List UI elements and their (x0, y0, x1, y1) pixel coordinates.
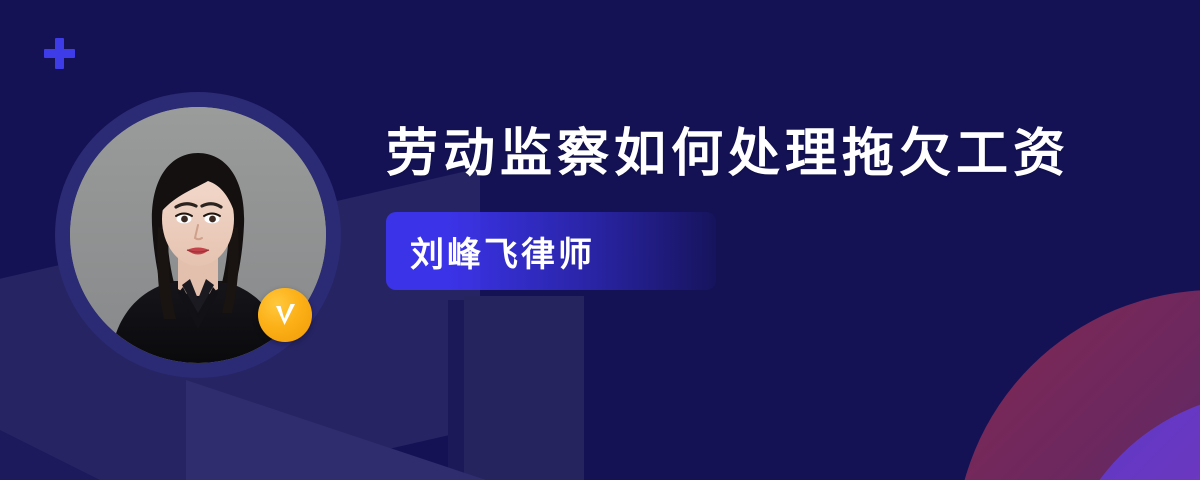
background-stripe (448, 300, 464, 480)
author-badge[interactable]: 刘峰飞律师 (386, 212, 716, 290)
crescent-arc-inner (1058, 392, 1200, 480)
article-cover-banner: 劳动监察如何处理拖欠工资 刘峰飞律师 (0, 0, 1200, 480)
background-triangle (186, 380, 546, 480)
background-band-right (464, 296, 584, 480)
plus-icon (42, 36, 78, 72)
crescent-arc-outer (955, 290, 1200, 480)
avatar (55, 92, 341, 378)
cover-content: 劳动监察如何处理拖欠工资 刘峰飞律师 (386, 118, 1086, 290)
background-notch (0, 430, 120, 480)
verified-check-icon (258, 288, 312, 342)
author-name: 刘峰飞律师 (410, 227, 595, 276)
page-title: 劳动监察如何处理拖欠工资 (386, 118, 1076, 190)
